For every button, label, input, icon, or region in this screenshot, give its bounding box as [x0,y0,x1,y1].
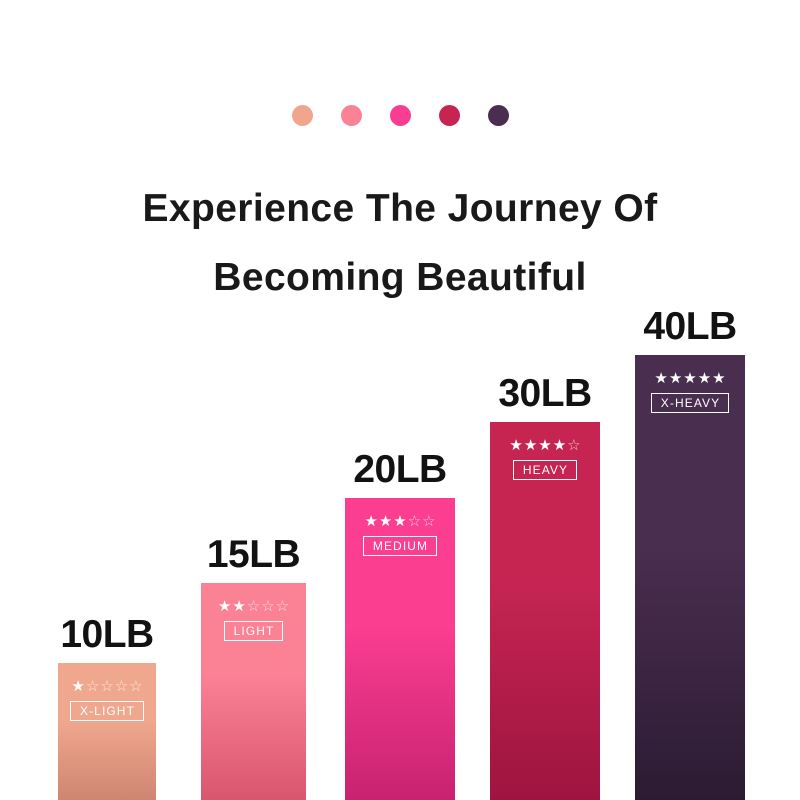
bar-value-label: 10LB [60,613,153,657]
star-empty-icon: ☆ [567,438,580,453]
star-filled-icon: ★ [712,371,725,386]
star-empty-icon: ☆ [408,514,421,529]
star-filled-icon: ★ [393,514,406,529]
bar-content: ★★★★☆HEAVY [490,438,600,480]
infographic-canvas: Experience The Journey Of Becoming Beaut… [0,0,800,800]
resistance-band-bar-chart: 10LB★☆☆☆☆X-LIGHT15LB★★☆☆☆LIGHT20LB★★★☆☆M… [0,0,800,800]
star-filled-icon: ★ [364,514,377,529]
bar-content: ★★☆☆☆LIGHT [201,599,306,641]
star-filled-icon: ★ [218,599,231,614]
star-empty-icon: ☆ [261,599,274,614]
rating-stars: ★★★★☆ [509,438,580,453]
star-empty-icon: ☆ [115,679,128,694]
star-filled-icon: ★ [509,438,522,453]
level-badge: LIGHT [224,621,284,641]
bar-light[interactable]: 15LB★★☆☆☆LIGHT [201,583,306,800]
bar-column: ★★☆☆☆LIGHT [201,583,306,800]
bar-medium[interactable]: 20LB★★★☆☆MEDIUM [345,498,455,800]
bar-column: ★★★★☆HEAVY [490,422,600,800]
star-filled-icon: ★ [71,679,84,694]
star-filled-icon: ★ [553,438,566,453]
level-badge: HEAVY [513,460,577,480]
bar-value-label: 15LB [207,533,300,577]
bar-x-light[interactable]: 10LB★☆☆☆☆X-LIGHT [58,663,156,800]
bar-value-label: 30LB [498,372,591,416]
star-empty-icon: ☆ [86,679,99,694]
star-filled-icon: ★ [654,371,667,386]
bar-fill [635,355,745,800]
bar-heavy[interactable]: 30LB★★★★☆HEAVY [490,422,600,800]
star-empty-icon: ☆ [247,599,260,614]
rating-stars: ★★☆☆☆ [218,599,289,614]
level-badge: X-LIGHT [70,701,144,721]
star-filled-icon: ★ [232,599,245,614]
rating-stars: ★★★☆☆ [364,514,435,529]
star-filled-icon: ★ [683,371,696,386]
star-filled-icon: ★ [524,438,537,453]
star-filled-icon: ★ [669,371,682,386]
star-filled-icon: ★ [538,438,551,453]
bar-column: ★★★☆☆MEDIUM [345,498,455,800]
bar-value-label: 40LB [643,305,736,349]
level-badge: X-HEAVY [651,393,730,413]
bar-x-heavy[interactable]: 40LB★★★★★X-HEAVY [635,355,745,800]
star-filled-icon: ★ [698,371,711,386]
star-empty-icon: ☆ [100,679,113,694]
star-empty-icon: ☆ [276,599,289,614]
bar-column: ★★★★★X-HEAVY [635,355,745,800]
star-filled-icon: ★ [379,514,392,529]
level-badge: MEDIUM [363,536,437,556]
star-empty-icon: ☆ [129,679,142,694]
rating-stars: ★★★★★ [654,371,725,386]
bar-content: ★★★★★X-HEAVY [635,371,745,413]
rating-stars: ★☆☆☆☆ [71,679,142,694]
bar-column: ★☆☆☆☆X-LIGHT [58,663,156,800]
star-empty-icon: ☆ [422,514,435,529]
bar-content: ★☆☆☆☆X-LIGHT [58,679,156,721]
bar-value-label: 20LB [353,448,446,492]
bar-content: ★★★☆☆MEDIUM [345,514,455,556]
